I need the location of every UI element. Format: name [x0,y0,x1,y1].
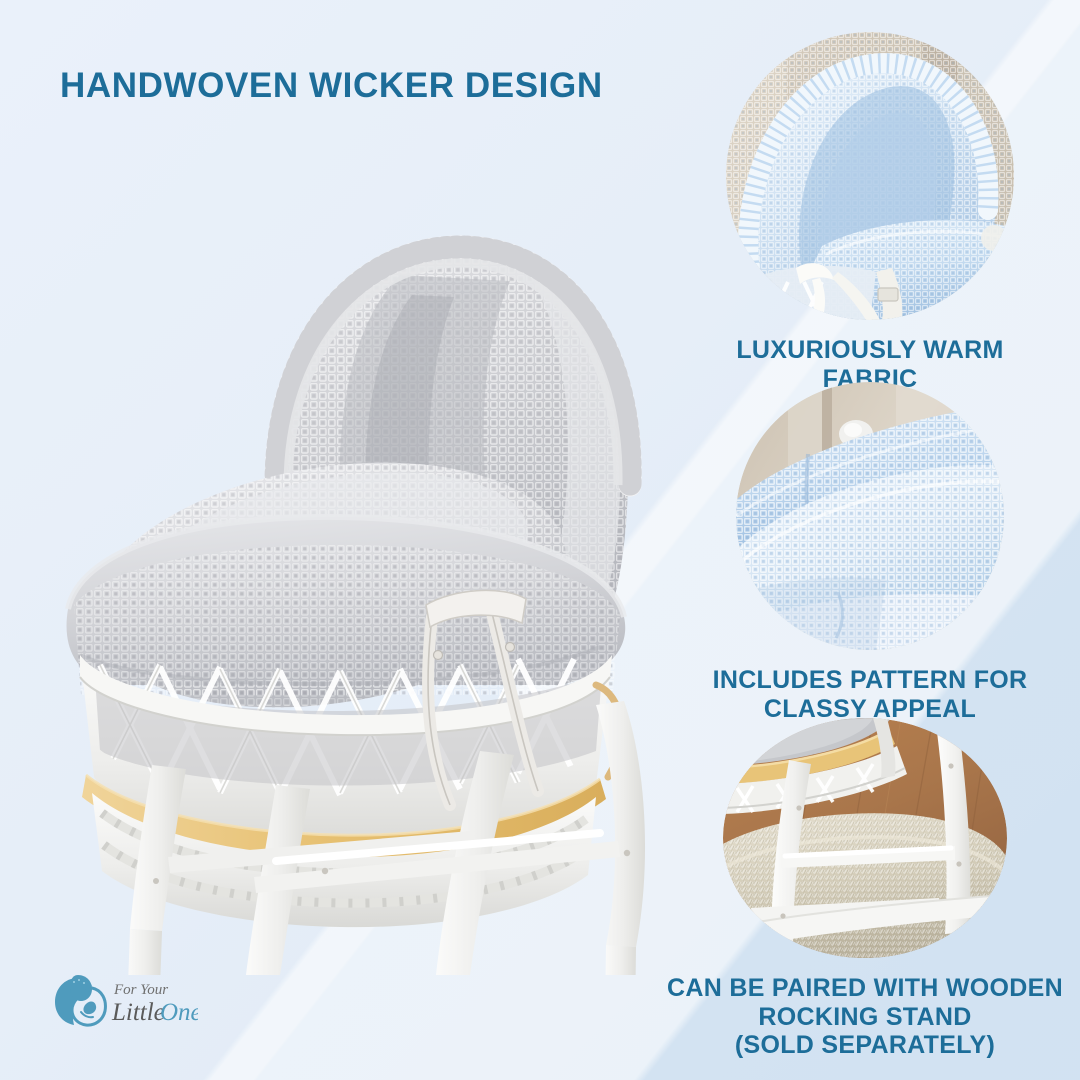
logo-line-2a: Little [111,999,165,1026]
mother-and-baby-icon [55,975,105,1025]
product-infographic-poster: HANDWOVEN WICKER DESIGN [0,0,1080,1080]
hero-product-image [40,185,660,975]
logo-line-2b: One [160,999,198,1026]
page-title: HANDWOVEN WICKER DESIGN [60,66,603,106]
feature-3-image [723,718,1007,958]
logo-line-1: For Your [113,982,168,998]
feature-1-image [726,32,1014,320]
feature-block-1: LUXURIOUSLY WARM FABRIC [660,32,1080,393]
brand-logo: For Your Little One [48,968,198,1038]
feature-2-image [736,382,1004,650]
feature-block-3: CAN BE PAIRED WITH WOODEN ROCKING STAND … [650,718,1080,1060]
feature-block-2: INCLUDES PATTERN FOR CLASSY APPEAL [660,382,1080,723]
feature-3-caption: CAN BE PAIRED WITH WOODEN ROCKING STAND … [650,974,1080,1060]
feature-2-caption: INCLUDES PATTERN FOR CLASSY APPEAL [660,666,1080,723]
